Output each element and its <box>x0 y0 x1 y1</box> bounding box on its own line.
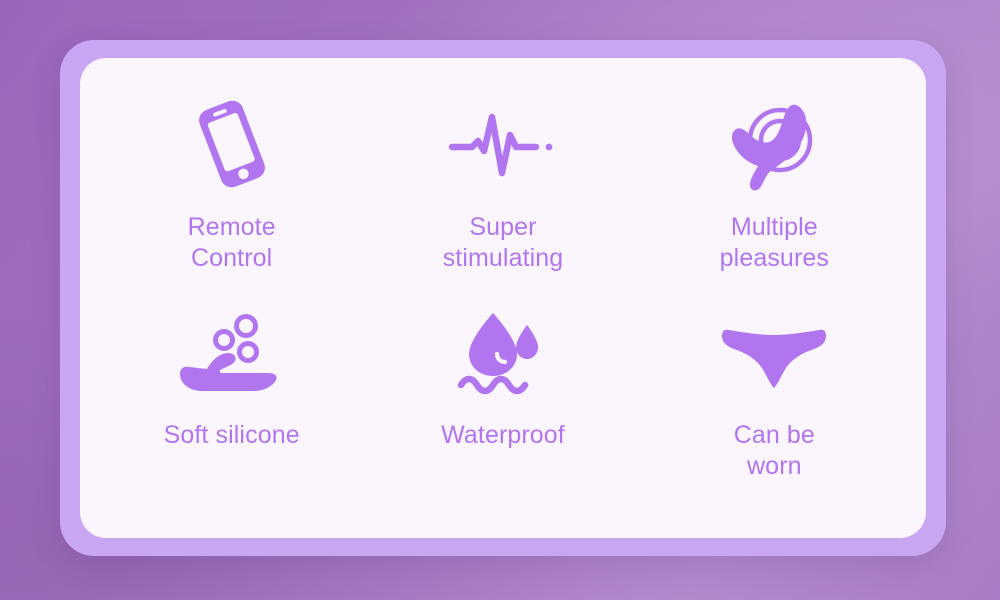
feature-label: Can be worn <box>734 420 815 482</box>
underwear-icon <box>716 306 832 404</box>
feature-label: Soft silicone <box>164 420 300 451</box>
feature-label: Multiple pleasures <box>720 212 829 274</box>
feature-label-line1: Multiple <box>731 213 818 241</box>
feature-label-line1: Can be <box>734 421 815 449</box>
feature-label: Waterproof <box>441 420 565 451</box>
feature-label-line2: pleasures <box>720 244 829 272</box>
feature-label-line1: Super <box>469 213 536 241</box>
pulse-waveform-icon <box>448 92 558 196</box>
feature-super-stimulating: Super stimulating <box>367 92 638 274</box>
feature-remote-control: Remote Control <box>96 92 367 274</box>
feature-panel-graphic: Remote Control Super stimulating <box>0 0 1000 600</box>
water-droplet-waves-icon <box>453 306 553 404</box>
feature-multiple-pleasures: Multiple pleasures <box>639 92 910 274</box>
hand-with-bubbles-icon <box>176 306 288 404</box>
feature-label: Super stimulating <box>443 212 564 274</box>
feature-can-be-worn: Can be worn <box>639 306 910 482</box>
feature-label: Remote Control <box>188 212 276 274</box>
feature-label-line1: Soft silicone <box>164 421 300 449</box>
feature-label-line2: stimulating <box>443 244 564 272</box>
feature-label-line1: Waterproof <box>441 421 565 449</box>
feature-grid: Remote Control Super stimulating <box>80 58 926 538</box>
feature-soft-silicone: Soft silicone <box>96 306 367 451</box>
feature-label-line2: worn <box>747 452 802 480</box>
vibration-ripple-icon <box>722 92 826 196</box>
feature-label-line2: Control <box>191 244 272 272</box>
feature-label-line1: Remote <box>188 213 276 241</box>
feature-waterproof: Waterproof <box>367 306 638 451</box>
smartphone-icon <box>186 92 278 196</box>
